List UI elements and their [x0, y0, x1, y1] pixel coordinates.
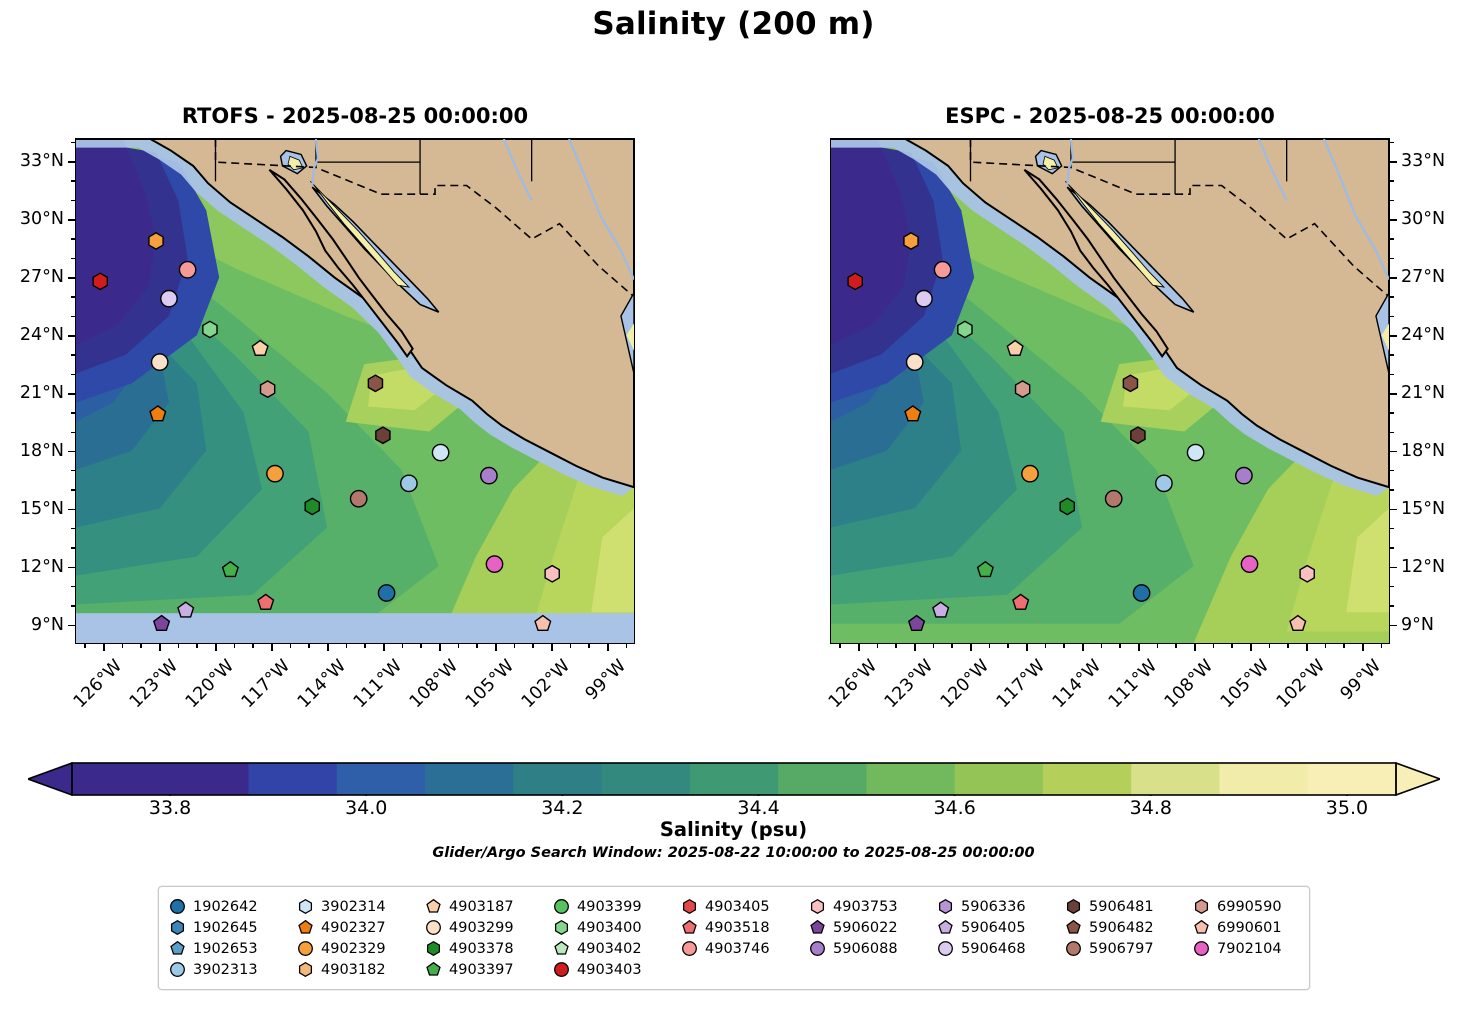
- x-tick-label: 105°W: [462, 656, 518, 712]
- y-tick-label: 21°N: [20, 383, 64, 403]
- y-minor-tick: [71, 316, 75, 317]
- legend-column: 699059069906017902104: [1193, 896, 1321, 980]
- legend-grid: 1902642190264519026533902313390231449023…: [169, 896, 1301, 980]
- legend-column: 4903187490329949033784903397: [425, 896, 553, 980]
- y-minor-tick: [1390, 432, 1394, 433]
- legend-item[interactable]: 5906088: [809, 938, 937, 959]
- y-minor-tick: [1390, 296, 1394, 297]
- legend-item[interactable]: 4903746: [681, 938, 809, 959]
- y-minor-tick: [71, 374, 75, 375]
- colorbar-tick-label: 34.0: [345, 797, 387, 819]
- x-tick: [495, 644, 497, 651]
- x-minor-tick: [402, 644, 403, 648]
- y-minor-tick: [1390, 142, 1394, 143]
- float-marker[interactable]: [1022, 466, 1038, 482]
- legend-item[interactable]: 3902314: [297, 896, 425, 917]
- float-marker[interactable]: [305, 498, 319, 514]
- x-minor-tick: [1325, 644, 1326, 648]
- float-marker[interactable]: [1123, 375, 1137, 391]
- legend-item-label: 4903187: [449, 899, 514, 915]
- y-tick-label: 9°N: [31, 615, 64, 635]
- panel-title-espc: ESPC - 2025-08-25 00:00:00: [830, 104, 1390, 128]
- x-tick-label: 120°W: [182, 656, 238, 712]
- x-tick: [970, 644, 972, 651]
- legend-marker-icon: [553, 961, 570, 978]
- float-marker[interactable]: [934, 262, 950, 278]
- y-tick: [68, 219, 75, 221]
- x-tick-label: 114°W: [294, 656, 350, 712]
- legend-item-label: 1902645: [193, 920, 258, 936]
- float-marker[interactable]: [1241, 556, 1257, 572]
- colorbar-tick-label: 34.4: [737, 797, 779, 819]
- legend-item-label: 4903403: [577, 962, 642, 978]
- y-tick: [68, 393, 75, 395]
- y-tick: [1390, 625, 1397, 627]
- legend-item-label: 3902314: [321, 899, 386, 915]
- legend-item[interactable]: 6990590: [1193, 896, 1321, 917]
- y-minor-tick: [1390, 258, 1394, 259]
- legend-item-label: 4903753: [833, 899, 898, 915]
- legend-item[interactable]: 1902653: [169, 938, 297, 959]
- float-marker[interactable]: [152, 354, 168, 370]
- y-tick: [1390, 393, 1397, 395]
- legend-item-label: 6990590: [1217, 899, 1282, 915]
- x-minor-tick: [1213, 644, 1214, 648]
- float-marker[interactable]: [1156, 475, 1172, 491]
- x-tick: [1026, 644, 1028, 651]
- x-tick-label: 117°W: [238, 656, 294, 712]
- page-title: Salinity (200 m): [0, 6, 1467, 42]
- figure-canvas: Salinity (200 m) RTOFS - 2025-08-25 00:0…: [0, 0, 1467, 1014]
- y-tick-label: 12°N: [1401, 557, 1445, 577]
- legend-item[interactable]: 7902104: [1193, 938, 1321, 959]
- legend-item-label: 1902653: [193, 941, 258, 957]
- legend-item[interactable]: 5906405: [937, 917, 1065, 938]
- x-tick: [383, 644, 385, 651]
- x-minor-tick: [196, 644, 197, 648]
- x-minor-tick: [895, 644, 896, 648]
- x-minor-tick: [570, 644, 571, 648]
- x-minor-tick: [346, 644, 347, 648]
- x-minor-tick: [308, 644, 309, 648]
- legend-item[interactable]: 4903182: [297, 959, 425, 980]
- x-tick-label: 111°W: [350, 656, 406, 712]
- x-minor-tick: [234, 644, 235, 648]
- float-marker[interactable]: [1106, 491, 1122, 507]
- x-tick-label: 126°W: [70, 656, 126, 712]
- y-minor-tick: [1390, 374, 1394, 375]
- legend-item-label: 5906336: [961, 899, 1026, 915]
- y-minor-tick: [71, 605, 75, 606]
- legend-item-label: 4903378: [449, 941, 514, 957]
- colorbar-tick-label: 34.6: [934, 797, 976, 819]
- y-minor-tick: [71, 238, 75, 239]
- x-tick: [159, 644, 161, 651]
- legend-marker-icon: [681, 919, 698, 936]
- x-tick: [1194, 644, 1196, 651]
- legend-marker-icon: [169, 961, 186, 978]
- legend-item-label: 5906797: [1089, 941, 1154, 957]
- y-tick: [68, 277, 75, 279]
- legend-item[interactable]: 4903299: [425, 917, 553, 938]
- legend-marker-icon: [425, 940, 442, 957]
- x-tick-label: 99°W: [582, 656, 630, 704]
- x-tick: [1082, 644, 1084, 651]
- y-minor-tick: [71, 296, 75, 297]
- y-tick: [1390, 567, 1397, 569]
- float-marker[interactable]: [848, 273, 862, 289]
- x-tick-label: 108°W: [1161, 656, 1217, 712]
- float-marker[interactable]: [1131, 427, 1145, 443]
- legend-item-label: 4902329: [321, 941, 386, 957]
- x-tick-label: 99°W: [1337, 656, 1385, 704]
- legend-item-label: 5906022: [833, 920, 898, 936]
- y-tick: [68, 625, 75, 627]
- x-minor-tick: [588, 644, 589, 648]
- y-minor-tick: [71, 258, 75, 259]
- y-tick-label: 33°N: [1401, 151, 1445, 171]
- x-tick: [914, 644, 916, 651]
- float-marker[interactable]: [958, 321, 972, 337]
- colorbar-tick-label: 34.8: [1130, 797, 1172, 819]
- x-minor-tick: [84, 644, 85, 648]
- legend-item[interactable]: 5906482: [1065, 917, 1193, 938]
- float-marker[interactable]: [261, 381, 275, 397]
- x-minor-tick: [122, 644, 123, 648]
- float-marker[interactable]: [203, 321, 217, 337]
- x-tick-label: 126°W: [825, 656, 881, 712]
- legend-marker-icon: [297, 940, 314, 957]
- float-marker[interactable]: [1300, 566, 1314, 582]
- x-tick-label: 114°W: [1049, 656, 1105, 712]
- float-marker[interactable]: [179, 262, 195, 278]
- x-minor-tick: [458, 644, 459, 648]
- float-marker[interactable]: [916, 290, 932, 306]
- x-minor-tick: [626, 644, 627, 648]
- x-tick: [607, 644, 609, 651]
- legend-item-label: 6990601: [1217, 920, 1282, 936]
- y-minor-tick: [71, 489, 75, 490]
- x-tick-label: 120°W: [937, 656, 993, 712]
- y-tick-label: 24°N: [20, 325, 64, 345]
- float-marker[interactable]: [401, 475, 417, 491]
- y-minor-tick: [71, 142, 75, 143]
- y-tick: [68, 451, 75, 453]
- legend-item-label: 5906405: [961, 920, 1026, 936]
- x-minor-tick: [933, 644, 934, 648]
- legend-item[interactable]: 6990601: [1193, 917, 1321, 938]
- y-minor-tick: [71, 354, 75, 355]
- x-minor-tick: [290, 644, 291, 648]
- x-minor-tick: [1007, 644, 1008, 648]
- x-tick-label: 108°W: [406, 656, 462, 712]
- legend-marker-icon: [1065, 919, 1082, 936]
- y-tick-label: 15°N: [1401, 499, 1445, 519]
- x-tick-label: 123°W: [881, 656, 937, 712]
- legend-item[interactable]: 1902642: [169, 896, 297, 917]
- y-tick: [1390, 161, 1397, 163]
- y-minor-tick: [1390, 238, 1394, 239]
- legend-marker-icon: [553, 940, 570, 957]
- legend-marker-icon: [809, 940, 826, 957]
- y-tick: [1390, 509, 1397, 511]
- y-minor-tick: [71, 412, 75, 413]
- y-tick: [68, 567, 75, 569]
- legend-item[interactable]: 4903378: [425, 938, 553, 959]
- map-panel-espc: ESPC - 2025-08-25 00:00:00 9°N12°N15°N18…: [830, 138, 1390, 644]
- x-tick: [1250, 644, 1252, 651]
- legend-item[interactable]: 3902313: [169, 959, 297, 980]
- x-tick-label: 105°W: [1217, 656, 1273, 712]
- legend-marker-icon: [1193, 898, 1210, 915]
- float-marker[interactable]: [93, 273, 107, 289]
- legend-item-label: 4903518: [705, 920, 770, 936]
- y-tick: [68, 161, 75, 163]
- float-marker[interactable]: [378, 585, 394, 601]
- legend-item[interactable]: 4903518: [681, 917, 809, 938]
- legend-marker-icon: [297, 898, 314, 915]
- legend-item[interactable]: 4903399: [553, 896, 681, 917]
- map-panel-rtofs: RTOFS - 2025-08-25 00:00:00 9°N12°N15°N1…: [75, 138, 635, 644]
- y-minor-tick: [71, 180, 75, 181]
- x-tick-label: 102°W: [518, 656, 574, 712]
- panel-title-rtofs: RTOFS - 2025-08-25 00:00:00: [75, 104, 635, 128]
- colorbar-tick-label: 35.0: [1326, 797, 1368, 819]
- x-tick: [1306, 644, 1308, 651]
- colorbar-svg: [28, 762, 1440, 796]
- legend-marker-icon: [681, 940, 698, 957]
- x-minor-tick: [1269, 644, 1270, 648]
- float-marker[interactable]: [907, 354, 923, 370]
- y-tick-label: 18°N: [20, 441, 64, 461]
- x-tick: [1138, 644, 1140, 651]
- y-tick: [1390, 277, 1397, 279]
- legend-marker-icon: [425, 919, 442, 936]
- float-marker[interactable]: [432, 444, 448, 460]
- colorbar: [28, 762, 1440, 796]
- x-minor-tick: [364, 644, 365, 648]
- float-marker[interactable]: [1133, 585, 1149, 601]
- legend-column: 1902642190264519026533902313: [169, 896, 297, 980]
- legend-marker-icon: [169, 919, 186, 936]
- x-tick: [271, 644, 273, 651]
- legend-item[interactable]: 4903405: [681, 896, 809, 917]
- colorbar-tick-label: 34.2: [541, 797, 583, 819]
- x-minor-tick: [532, 644, 533, 648]
- y-tick-label: 27°N: [20, 267, 64, 287]
- legend-item-label: 7902104: [1217, 941, 1282, 957]
- legend-item[interactable]: 5906022: [809, 917, 937, 938]
- x-minor-tick: [1157, 644, 1158, 648]
- y-minor-tick: [1390, 200, 1394, 201]
- x-minor-tick: [1101, 644, 1102, 648]
- legend-marker-icon: [681, 898, 698, 915]
- legend-item-label: 4903402: [577, 941, 642, 957]
- float-marker[interactable]: [267, 466, 283, 482]
- float-marker[interactable]: [904, 233, 918, 249]
- y-minor-tick: [71, 586, 75, 587]
- legend-item[interactable]: 4903187: [425, 896, 553, 917]
- x-minor-tick: [252, 644, 253, 648]
- y-minor-tick: [1390, 470, 1394, 471]
- legend-marker-icon: [809, 898, 826, 915]
- float-marker[interactable]: [1016, 381, 1030, 397]
- legend-item-label: 5906482: [1089, 920, 1154, 936]
- legend-item-label: 4903405: [705, 899, 770, 915]
- x-minor-tick: [989, 644, 990, 648]
- x-minor-tick: [420, 644, 421, 648]
- x-minor-tick: [951, 644, 952, 648]
- legend-marker-icon: [169, 940, 186, 957]
- y-minor-tick: [71, 528, 75, 529]
- y-tick-label: 15°N: [20, 499, 64, 519]
- legend-item-label: 4903400: [577, 920, 642, 936]
- colorbar-tick-label: 33.8: [149, 797, 191, 819]
- y-tick: [1390, 335, 1397, 337]
- legend-marker-icon: [1065, 940, 1082, 957]
- x-minor-tick: [1175, 644, 1176, 648]
- legend-item-label: 4903397: [449, 962, 514, 978]
- x-minor-tick: [839, 644, 840, 648]
- y-tick: [68, 509, 75, 511]
- y-minor-tick: [71, 470, 75, 471]
- float-marker[interactable]: [351, 491, 367, 507]
- legend-column: 4903399490340049034024903403: [553, 896, 681, 980]
- float-marker[interactable]: [1187, 444, 1203, 460]
- legend-item[interactable]: 4903403: [553, 959, 681, 980]
- x-minor-tick: [1045, 644, 1046, 648]
- y-minor-tick: [71, 432, 75, 433]
- y-minor-tick: [1390, 316, 1394, 317]
- legend-marker-icon: [937, 940, 954, 957]
- legend-item[interactable]: 4903397: [425, 959, 553, 980]
- x-tick-label: 117°W: [993, 656, 1049, 712]
- legend-item-label: 4902327: [321, 920, 386, 936]
- legend-marker-icon: [553, 919, 570, 936]
- x-minor-tick: [178, 644, 179, 648]
- x-minor-tick: [1063, 644, 1064, 648]
- y-minor-tick: [71, 200, 75, 201]
- legend-item[interactable]: 4902327: [297, 917, 425, 938]
- y-minor-tick: [1390, 489, 1394, 490]
- x-minor-tick: [140, 644, 141, 648]
- legend-marker-icon: [809, 919, 826, 936]
- x-minor-tick: [877, 644, 878, 648]
- y-minor-tick: [1390, 605, 1394, 606]
- legend-marker-icon: [297, 961, 314, 978]
- search-window-subtitle: Glider/Argo Search Window: 2025-08-22 10…: [0, 845, 1467, 861]
- x-tick: [551, 644, 553, 651]
- legend-item[interactable]: 4903753: [809, 896, 937, 917]
- legend-item-label: 5906088: [833, 941, 898, 957]
- float-marker[interactable]: [481, 467, 497, 483]
- legend-item-label: 3902313: [193, 962, 258, 978]
- float-marker[interactable]: [486, 556, 502, 572]
- legend-marker-icon: [1193, 940, 1210, 957]
- x-minor-tick: [1287, 644, 1288, 648]
- x-minor-tick: [514, 644, 515, 648]
- y-tick: [1390, 451, 1397, 453]
- y-tick-label: 33°N: [20, 151, 64, 171]
- float-marker[interactable]: [149, 233, 163, 249]
- legend-item[interactable]: 4902329: [297, 938, 425, 959]
- float-marker[interactable]: [1236, 467, 1252, 483]
- y-tick-label: 18°N: [1401, 441, 1445, 461]
- x-minor-tick: [1119, 644, 1120, 648]
- colorbar-title: Salinity (psu): [0, 818, 1467, 841]
- legend-column: 590648159064825906797: [1065, 896, 1193, 980]
- legend-marker-icon: [1193, 919, 1210, 936]
- legend-item-label: 4903299: [449, 920, 514, 936]
- y-tick-label: 9°N: [1401, 615, 1434, 635]
- float-legend[interactable]: 1902642190264519026533902313390231449023…: [158, 886, 1310, 990]
- legend-marker-icon: [169, 898, 186, 915]
- y-tick: [68, 335, 75, 337]
- legend-marker-icon: [1065, 898, 1082, 915]
- y-tick: [1390, 219, 1397, 221]
- map-plot-espc[interactable]: [830, 138, 1390, 644]
- y-minor-tick: [1390, 586, 1394, 587]
- legend-item-label: 5906481: [1089, 899, 1154, 915]
- legend-item-label: 4903746: [705, 941, 770, 957]
- y-tick-label: 21°N: [1401, 383, 1445, 403]
- legend-item[interactable]: 5906481: [1065, 896, 1193, 917]
- x-tick: [439, 644, 441, 651]
- legend-item[interactable]: 1902645: [169, 917, 297, 938]
- float-marker[interactable]: [368, 375, 382, 391]
- x-minor-tick: [1231, 644, 1232, 648]
- x-tick: [858, 644, 860, 651]
- legend-marker-icon: [425, 898, 442, 915]
- legend-item-label: 5906468: [961, 941, 1026, 957]
- legend-item[interactable]: 5906336: [937, 896, 1065, 917]
- x-tick-label: 111°W: [1105, 656, 1161, 712]
- legend-item[interactable]: 4903402: [553, 938, 681, 959]
- legend-marker-icon: [297, 919, 314, 936]
- y-tick-label: 30°N: [1401, 209, 1445, 229]
- legend-column: 3902314490232749023294903182: [297, 896, 425, 980]
- legend-marker-icon: [425, 961, 442, 978]
- y-minor-tick: [1390, 528, 1394, 529]
- x-minor-tick: [1381, 644, 1382, 648]
- legend-item-label: 1902642: [193, 899, 258, 915]
- x-tick: [1362, 644, 1364, 651]
- legend-item-label: 4903182: [321, 962, 386, 978]
- y-minor-tick: [1390, 547, 1394, 548]
- x-tick: [327, 644, 329, 651]
- legend-item[interactable]: 5906468: [937, 938, 1065, 959]
- x-minor-tick: [1343, 644, 1344, 648]
- y-tick-label: 24°N: [1401, 325, 1445, 345]
- y-tick-label: 27°N: [1401, 267, 1445, 287]
- map-plot-rtofs[interactable]: [75, 138, 635, 644]
- x-tick: [215, 644, 217, 651]
- legend-item[interactable]: 5906797: [1065, 938, 1193, 959]
- float-marker[interactable]: [545, 566, 559, 582]
- x-tick: [103, 644, 105, 651]
- y-minor-tick: [71, 547, 75, 548]
- x-tick-label: 123°W: [126, 656, 182, 712]
- legend-item[interactable]: 4903400: [553, 917, 681, 938]
- float-marker[interactable]: [376, 427, 390, 443]
- legend-column: 590633659064055906468: [937, 896, 1065, 980]
- y-tick-label: 30°N: [20, 209, 64, 229]
- y-minor-tick: [1390, 180, 1394, 181]
- float-marker[interactable]: [1060, 498, 1074, 514]
- y-minor-tick: [1390, 354, 1394, 355]
- x-tick-label: 102°W: [1273, 656, 1329, 712]
- float-marker[interactable]: [161, 290, 177, 306]
